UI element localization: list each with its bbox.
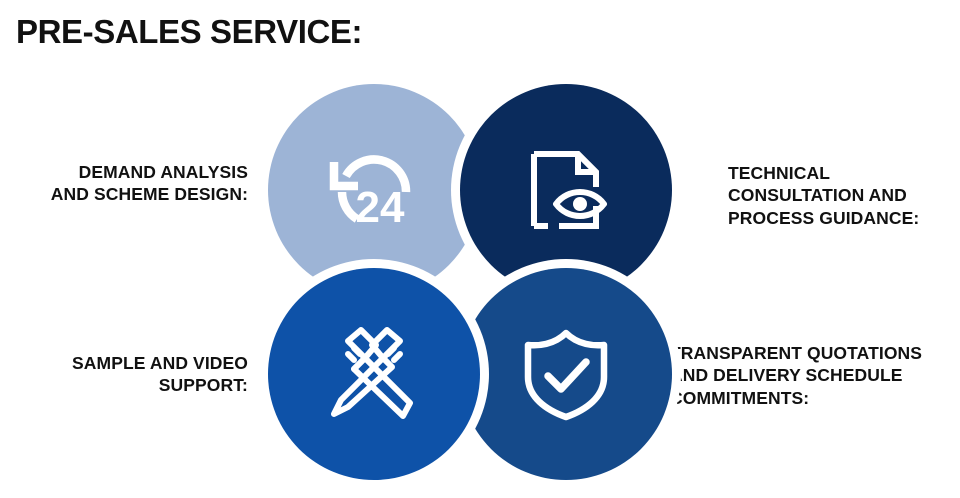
circle-transparent-quotations[interactable]: [460, 268, 672, 480]
icon-24-text: 24: [356, 183, 405, 232]
four-circle-cluster: 24: [268, 84, 672, 480]
label-line: AND SCHEME DESIGN:: [0, 183, 248, 205]
label-line: SUPPORT:: [0, 374, 248, 396]
label-line: COMMITMENTS:: [670, 387, 960, 409]
document-eye-review-icon: [516, 140, 616, 240]
label-technical-consultation: TECHNICAL CONSULTATION AND PROCESS GUIDA…: [728, 162, 960, 229]
label-transparent-quotations: TRANSPARENT QUOTATIONS AND DELIVERY SCHE…: [670, 342, 960, 409]
circle-sample-video-support[interactable]: [268, 268, 480, 480]
label-line: DEMAND ANALYSIS: [0, 161, 248, 183]
page-title: PRE-SALES SERVICE:: [16, 13, 362, 51]
label-line: TRANSPARENT QUOTATIONS: [670, 342, 960, 364]
clock-24-hour-rotate-icon: 24: [324, 140, 424, 240]
shield-check-icon: [516, 324, 616, 424]
circle-demand-analysis[interactable]: 24: [268, 84, 480, 296]
infographic-page: PRE-SALES SERVICE: 24: [0, 0, 960, 498]
label-line: PROCESS GUIDANCE:: [728, 207, 960, 229]
label-sample-video-support: SAMPLE AND VIDEO SUPPORT:: [0, 352, 248, 397]
label-line: SAMPLE AND VIDEO: [0, 352, 248, 374]
label-line: CONSULTATION AND: [728, 184, 960, 206]
label-demand-analysis: DEMAND ANALYSIS AND SCHEME DESIGN:: [0, 161, 248, 206]
pen-and-pencil-crossed-icon: [324, 324, 424, 424]
label-line: AND DELIVERY SCHEDULE: [670, 364, 960, 386]
label-line: TECHNICAL: [728, 162, 960, 184]
circle-technical-consultation[interactable]: [460, 84, 672, 296]
